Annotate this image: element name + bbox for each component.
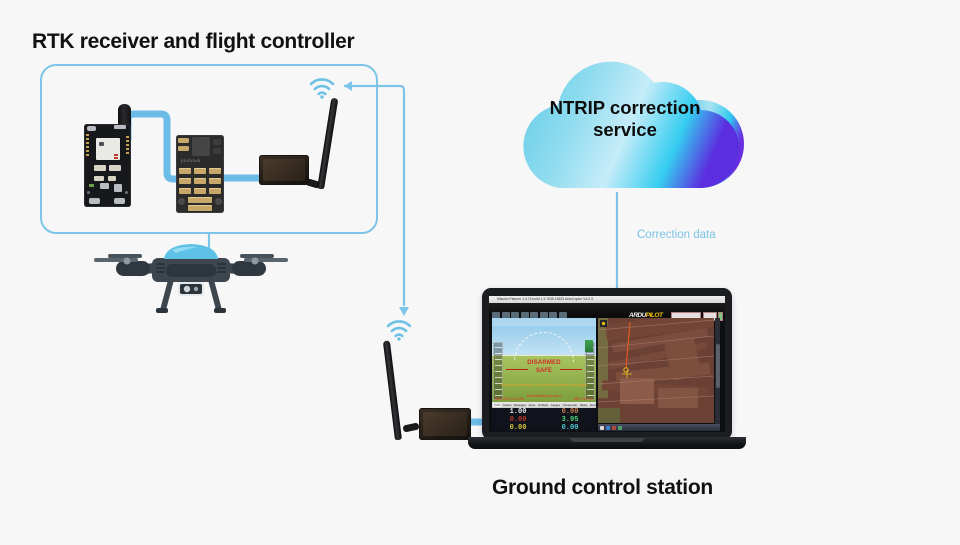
air-radio-face [263, 159, 305, 181]
hud-gps-readout: GPS: No Fix [573, 397, 593, 401]
laptop-screen: Mission Planner 1.3.74 build 1.3.7635.16… [489, 296, 725, 432]
taskbar-start-icon[interactable] [600, 426, 604, 430]
hud-panel: DISARMED SAFE PreArm: Motors: Check fram… [492, 318, 596, 402]
hud-tab-3[interactable]: Servo [528, 404, 536, 407]
pixhawk-brand-label: pixhawk [181, 159, 200, 164]
telemetry-value-4: 0.00 [492, 424, 544, 432]
laptop-base-notch [570, 438, 644, 442]
telemetry-value-1: 0.00 [544, 408, 596, 416]
hud-tape-tick [495, 353, 502, 354]
hud-tab-0[interactable]: Quick [493, 404, 501, 407]
hud-tape-tick [587, 377, 594, 378]
gcs-section-title: Ground control station [492, 476, 713, 500]
hud-armed-status: DISARMED [492, 360, 596, 366]
hud-tape-tick [495, 347, 502, 348]
hud-tape-tick [587, 389, 594, 390]
telemetry-value-5: 0.00 [544, 424, 596, 432]
hud-prearm-message: PreArm: Motors: Check frame class and ty… [492, 382, 596, 387]
pixhawk-flight-controller: pixhawk [176, 135, 224, 213]
mission-planner-titlebar: Mission Planner 1.3.74 build 1.3.7635.16… [489, 296, 725, 303]
satellite-map-image [598, 318, 714, 423]
hud-tab-2[interactable]: Messages [513, 404, 526, 407]
hud-tape-tick [495, 377, 502, 378]
hud-safety-status: SAFE [492, 368, 596, 374]
hud-tab-7[interactable]: Status [579, 404, 588, 407]
telemetry-value-2: 0.00 [492, 416, 544, 424]
mission-planner-ribbon: ARDUPILOT [489, 303, 725, 317]
taskbar-app-icon-2[interactable] [612, 426, 616, 430]
ground-telemetry-antenna [383, 340, 402, 440]
map-scrollbar-thumb[interactable] [716, 344, 720, 388]
telemetry-value-0: 1.00 [492, 408, 544, 416]
telemetry-value-3: 3.95 [544, 416, 596, 424]
hud-battery-readout: Bat 0.00v 0.0 A 0% [495, 397, 525, 401]
hud-tab-6[interactable]: Transponder [562, 404, 578, 407]
hud-tab-8[interactable]: Servo/Relay [589, 404, 596, 407]
hud-heading-tape [492, 318, 596, 326]
hud-tape-tick [587, 353, 594, 354]
hud-tab-1[interactable]: Actions [502, 404, 512, 407]
ntrip-cloud-label: NTRIP correction service [508, 36, 778, 186]
map-scrollbar[interactable] [715, 318, 720, 431]
diagram-canvas: RTK receiver and flight controller Groun… [0, 0, 960, 545]
window-title: Mission Planner 1.3.74 build 1.3.7635.16… [497, 297, 593, 301]
hud-compass [585, 340, 593, 352]
correction-data-label: Correction data [637, 229, 716, 241]
pixhawk-top-module [192, 137, 210, 156]
hud-tab-4[interactable]: PreFlight [537, 404, 549, 407]
telemetry-data-grid: 1.000.000.003.950.000.00 [492, 408, 596, 431]
ntrip-cloud: NTRIP correction service [508, 36, 778, 186]
ground-telemetry-radio [419, 408, 471, 440]
hud-tab-5[interactable]: Gauges [550, 404, 561, 407]
ground-radio-face [423, 412, 467, 436]
rtk-receiver-board [84, 124, 131, 207]
ground-antenna-joint [402, 422, 419, 432]
rtk-section-title: RTK receiver and flight controller [32, 30, 354, 54]
hud-tape-tick [495, 389, 502, 390]
drone-illustration [86, 240, 296, 320]
taskbar-app-icon-1[interactable] [606, 426, 610, 430]
air-telemetry-radio [259, 155, 309, 185]
map-panel[interactable] [598, 318, 714, 423]
os-taskbar [598, 424, 720, 431]
taskbar-app-icon-3[interactable] [618, 426, 622, 430]
